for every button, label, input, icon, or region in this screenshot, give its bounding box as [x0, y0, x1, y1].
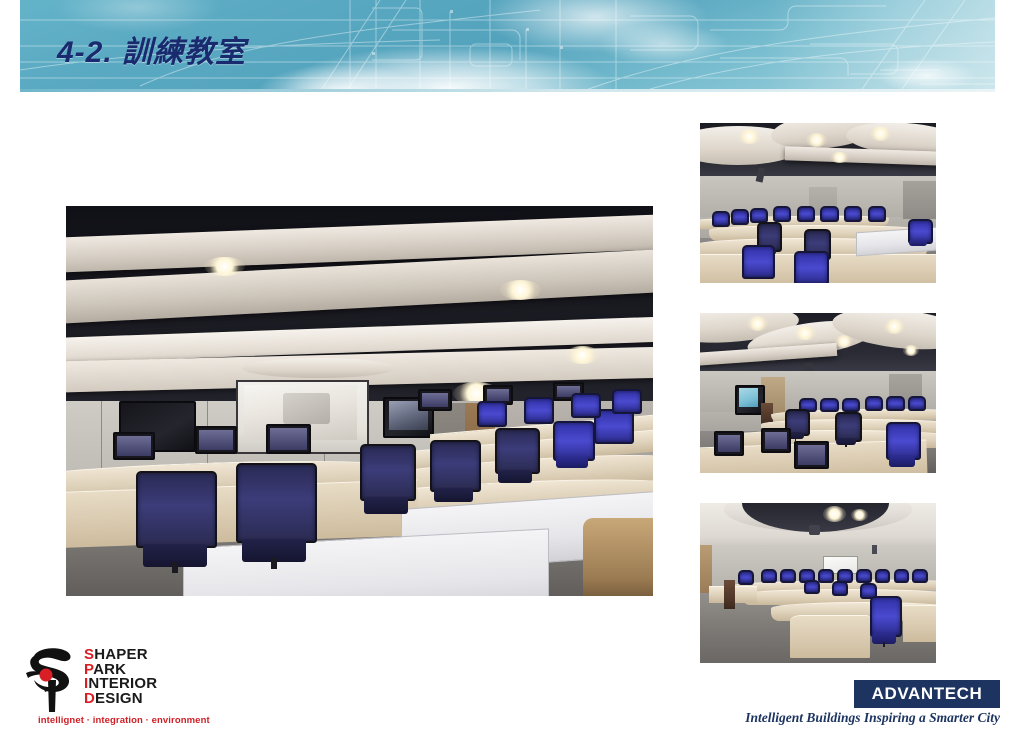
- logo-line-4: DESIGN: [84, 692, 157, 707]
- slide-header-banner: 4-2. 訓練教室: [20, 0, 995, 92]
- advantech-tagline: Intelligent Buildings Inspiring a Smarte…: [745, 710, 1000, 726]
- classroom-chair: [430, 440, 477, 506]
- advantech-wordmark: ADVANTECH: [854, 680, 1000, 708]
- classroom-chair: [495, 428, 536, 487]
- classroom-chair: [136, 471, 212, 572]
- training-classroom-thumbnail-1: [700, 123, 936, 283]
- advantech-logo: ADVANTECH Intelligent Buildings Inspirin…: [735, 680, 1000, 728]
- training-classroom-main-photo: [66, 206, 653, 596]
- training-classroom-thumbnail-2: [700, 313, 936, 473]
- classroom-chair: [236, 463, 312, 568]
- brush-stroke-s-icon: [22, 644, 84, 714]
- header-right-fade: [765, 0, 995, 92]
- classroom-chair: [524, 397, 550, 428]
- header-bottom-rule: [20, 89, 995, 92]
- shaper-park-wordmark: SHAPER PARK INTERIOR DESIGN: [84, 648, 157, 706]
- classroom-chair: [571, 393, 597, 422]
- classroom-scene-rear: [700, 503, 936, 663]
- page-title: 4-2. 訓練教室: [57, 27, 246, 71]
- classroom-scene-podium: [700, 313, 936, 473]
- classroom-scene-main: [66, 206, 653, 596]
- classroom-scene-wide: [700, 123, 936, 283]
- classroom-chair: [612, 389, 638, 418]
- shaper-park-tagline: intellignet · integration · environment: [38, 715, 210, 726]
- classroom-chair: [360, 444, 413, 518]
- classroom-chair: [553, 421, 591, 472]
- presentation-slide: 4-2. 訓練教室: [0, 0, 1024, 733]
- shaper-park-logo: SHAPER PARK INTERIOR DESIGN intellignet …: [22, 644, 202, 728]
- lectern: [724, 580, 736, 609]
- classroom-chair: [477, 401, 503, 432]
- advantech-wordmark-box: ADVANTECH: [854, 680, 1000, 708]
- training-classroom-thumbnail-3: [700, 503, 936, 663]
